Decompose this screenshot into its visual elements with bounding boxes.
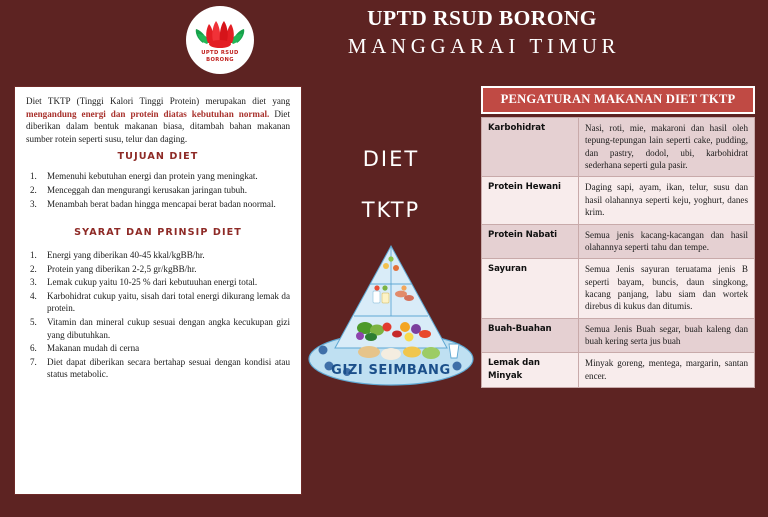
list-item-label: Menambah berat badan hingga mencapai ber… [47, 198, 290, 211]
page-title: UPTD RSUD BORONG [262, 6, 702, 31]
list-item: 7.Diet dapat diberikan secara bertahap s… [26, 356, 290, 381]
logo-caption-line-2: BORONG [201, 57, 239, 64]
table-row: Karbohidrat Nasi, roti, mie, makaroni da… [482, 118, 755, 177]
table-cell-description: Minyak goreng, mentega, margarin, santan… [579, 353, 755, 388]
list-item: 3.Menambah berat badan hingga mencapai b… [26, 198, 290, 211]
list-item-label: Karbohidrat cukup yaitu, sisah dari tota… [47, 290, 290, 315]
list-item: 4.Karbohidrat cukup yaitu, sisah dari to… [26, 290, 290, 315]
page-header: UPTD RSUD BORONG UPTD RSUD BORONG MANGGA… [0, 0, 768, 78]
list-item-index: 6. [26, 342, 47, 355]
table-cell-description: Daging sapi, ayam, ikan, telur, susu dan… [579, 177, 755, 224]
header-title-block: UPTD RSUD BORONG MANGGARAI TIMUR [262, 6, 702, 59]
tujuan-list: 1.Memenuhi kebutuhan energi dan protein … [26, 170, 290, 210]
table-row: Lemak dan Minyak Minyak goreng, mentega,… [482, 353, 755, 388]
list-item: 2.Menceggah dan mengurangi kerusakan jar… [26, 184, 290, 197]
list-item-index: 3. [26, 198, 47, 211]
list-item-index: 2. [26, 184, 47, 197]
food-table: Karbohidrat Nasi, roti, mie, makaroni da… [481, 117, 755, 388]
table-row: Protein Hewani Daging sapi, ayam, ikan, … [482, 177, 755, 224]
table-cell-category: Lemak dan Minyak [482, 353, 579, 388]
table-cell-category: Protein Nabati [482, 224, 579, 259]
table-cell-description: Semua Jenis Buah segar, buah kaleng dan … [579, 318, 755, 353]
list-item-label: Lemak cukup yaitu 10-25 % dari kebutuuha… [47, 276, 290, 289]
syarat-list: 1.Energi yang diberikan 40-45 kkal/kgBB/… [26, 249, 290, 380]
logo-caption: UPTD RSUD BORONG [201, 50, 239, 63]
list-item-label: Vitamin dan mineral cukup sesuai dengan … [47, 316, 290, 341]
list-item-label: Protein yang diberikan 2-2,5 gr/kgBB/hr. [47, 263, 290, 276]
balanced-nutrition-pyramid-icon: GIZI SEIMBANG [307, 244, 475, 393]
table-cell-description: Semua Jenis sayuran teruatama jenis B se… [579, 259, 755, 318]
list-item: 1.Memenuhi kebutuhan energi dan protein … [26, 170, 290, 183]
table-row: Buah-Buahan Semua Jenis Buah segar, buah… [482, 318, 755, 353]
list-item: 1.Energi yang diberikan 40-45 kkal/kgBB/… [26, 249, 290, 262]
table-row: Sayuran Semua Jenis sayuran teruatama je… [482, 259, 755, 318]
food-arrangement-panel: PENGATURAN MAKANAN DIET TKTP Karbohidrat… [481, 86, 755, 388]
table-cell-description: Semua jenis kacang-kacangan dan hasil ol… [579, 224, 755, 259]
lotus-flower-logo-icon [195, 17, 245, 51]
section-heading-syarat: SYARAT DAN PRINSIP DIET [26, 226, 290, 239]
table-cell-category: Karbohidrat [482, 118, 579, 177]
list-item-label: Memenuhi kebutuhan energi dan protein ya… [47, 170, 290, 183]
table-row: Protein Nabati Semua jenis kacang-kacang… [482, 224, 755, 259]
list-item: 6.Makanan mudah di cerna [26, 342, 290, 355]
list-item-index: 1. [26, 170, 47, 183]
list-item-label: Makanan mudah di cerna [47, 342, 290, 355]
list-item-index: 1. [26, 249, 47, 262]
center-column: DIET TKTP [305, 86, 477, 495]
table-cell-category: Sayuran [482, 259, 579, 318]
list-item-index: 3. [26, 276, 47, 289]
list-item: 5.Vitamin dan mineral cukup sesuai denga… [26, 316, 290, 341]
list-item-index: 4. [26, 290, 47, 315]
list-item-index: 7. [26, 356, 47, 381]
list-item-index: 2. [26, 263, 47, 276]
diet-info-panel: Diet TKTP (Tinggi Kalori Tinggi Protein)… [14, 86, 302, 495]
intro-paragraph: Diet TKTP (Tinggi Kalori Tinggi Protein)… [26, 95, 290, 145]
intro-highlight: mengandung energi dan protein diatas keb… [26, 109, 269, 119]
nutrition-pyramid: GIZI SEIMBANG [305, 244, 477, 393]
list-item-index: 5. [26, 316, 47, 341]
table-cell-category: Buah-Buahan [482, 318, 579, 353]
logo-caption-line-1: UPTD RSUD [201, 50, 239, 57]
list-item-label: Energi yang diberikan 40-45 kkal/kgBB/hr… [47, 249, 290, 262]
diet-word-primary: DIET [305, 147, 477, 171]
table-title: PENGATURAN MAKANAN DIET TKTP [481, 86, 755, 114]
diet-word-secondary: TKTP [305, 198, 477, 222]
section-heading-tujuan: TUJUAN DIET [26, 150, 290, 163]
table-cell-category: Protein Hewani [482, 177, 579, 224]
pyramid-label-text: GIZI SEIMBANG [331, 363, 451, 378]
table-cell-description: Nasi, roti, mie, makaroni dan hasil oleh… [579, 118, 755, 177]
list-item-label: Diet dapat diberikan secara bertahap ses… [47, 356, 290, 381]
list-item: 3.Lemak cukup yaitu 10-25 % dari kebutuu… [26, 276, 290, 289]
intro-text-before: Diet TKTP (Tinggi Kalori Tinggi Protein)… [26, 96, 290, 106]
list-item-label: Menceggah dan mengurangi kerusakan jarin… [47, 184, 290, 197]
list-item: 2.Protein yang diberikan 2-2,5 gr/kgBB/h… [26, 263, 290, 276]
page-subtitle: MANGGARAI TIMUR [262, 34, 702, 59]
hospital-logo: UPTD RSUD BORONG [186, 6, 254, 74]
